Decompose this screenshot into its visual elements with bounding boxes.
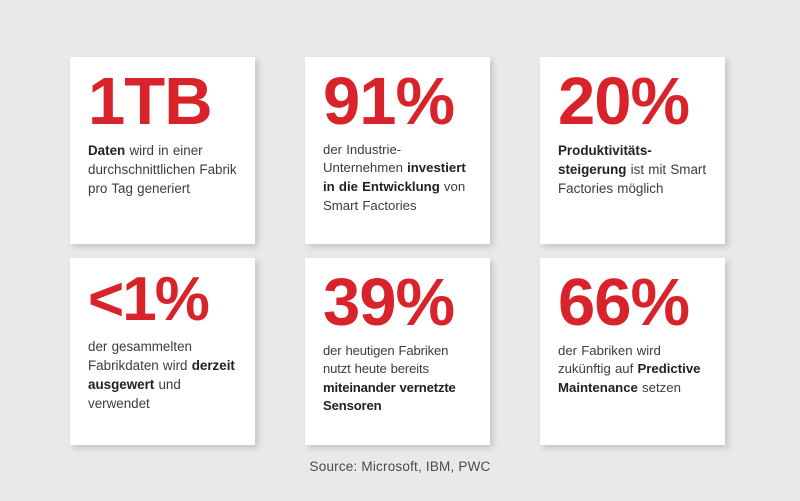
- stat-description: der heutigen Fabriken nutzt heute bereit…: [323, 342, 476, 416]
- stat-card-connected-sensors: 39% der heutigen Fabriken nutzt heute be…: [305, 258, 490, 445]
- stat-card-data-analyzed: <1% der gesammelten Fabrikdaten wird der…: [70, 258, 255, 445]
- stat-card-data-per-day: 1TB Daten wird in einer durchschnittlich…: [70, 57, 255, 244]
- stat-description: Daten wird in einer durchschnittlichen F…: [88, 141, 241, 198]
- stat-value: 1TB: [88, 69, 212, 135]
- body-text: der heutigen Fabriken nutzt heute bereit…: [323, 343, 448, 377]
- stat-card-investment-share: 91% der Industrie-Unternehmen investiert…: [305, 57, 490, 244]
- source-attribution: Source: Microsoft, IBM, PWC: [0, 458, 800, 476]
- emphasis-text: Daten: [88, 143, 125, 158]
- stat-description: der gesammelten Fabrikdaten wird derzeit…: [88, 337, 241, 413]
- stat-description: der Fabriken wird zukünftig auf Predicti…: [558, 342, 711, 398]
- stat-card-predictive-maintenance: 66% der Fabriken wird zukünftig auf Pred…: [540, 258, 725, 445]
- stat-value: 91%: [323, 69, 454, 135]
- stat-description: Produktivitäts-steigerung ist mit Smart …: [558, 141, 711, 198]
- body-text: der gesammelten Fabrikdaten wird: [88, 339, 192, 373]
- stat-value: 66%: [558, 270, 689, 336]
- stat-description: der Industrie-Unternehmen investiert in …: [323, 141, 476, 216]
- body-text: setzen: [638, 380, 681, 395]
- stat-card-productivity-gain: 20% Produktivitäts-steigerung ist mit Sm…: [540, 57, 725, 244]
- stat-value: <1%: [88, 270, 208, 331]
- stat-value: 20%: [558, 69, 689, 135]
- infographic-canvas: 1TB Daten wird in einer durchschnittlich…: [0, 0, 800, 501]
- stat-card-grid: 1TB Daten wird in einer durchschnittlich…: [70, 57, 725, 445]
- body-text: der Industrie-Unternehmen: [323, 142, 407, 176]
- stat-value: 39%: [323, 270, 454, 336]
- emphasis-text: miteinander vernetzte Sensoren: [323, 380, 456, 414]
